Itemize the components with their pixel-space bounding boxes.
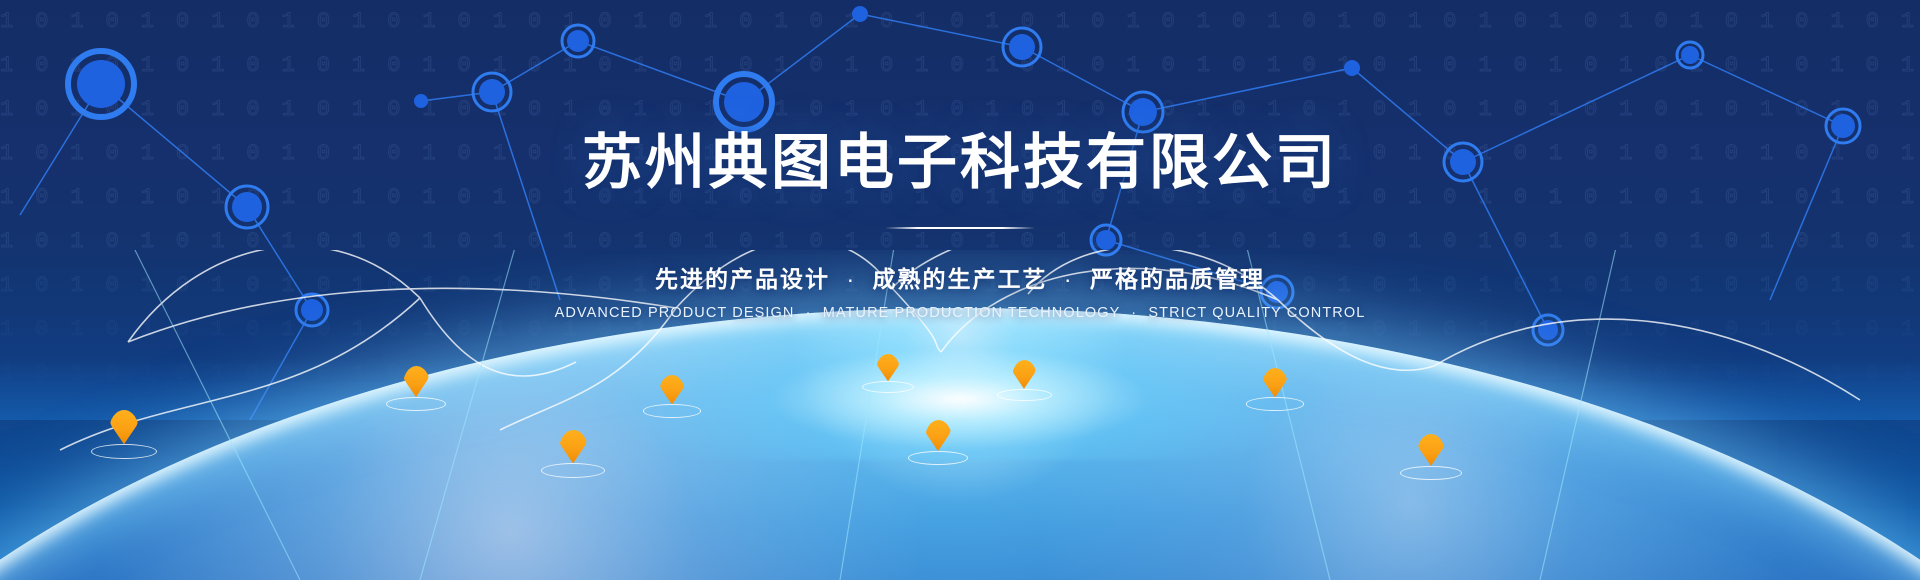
globe-atmosphere-rim bbox=[0, 308, 1920, 580]
tagline-en-separator-2: · bbox=[1125, 305, 1143, 321]
tagline-cn-part-1: 先进的产品设计 bbox=[655, 266, 830, 292]
title-divider bbox=[885, 227, 1035, 229]
page-title: 苏州典图电子科技有限公司 bbox=[0, 133, 1920, 193]
tagline-english: ADVANCED PRODUCT DESIGN · MATURE PRODUCT… bbox=[0, 305, 1920, 321]
tagline-en-separator-1: · bbox=[800, 305, 818, 321]
tagline-en-part-1: ADVANCED PRODUCT DESIGN bbox=[555, 305, 795, 321]
tagline-chinese: 先进的产品设计 · 成熟的生产工艺 · 严格的品质管理 bbox=[0, 260, 1920, 294]
hero-content: 苏州典图电子科技有限公司 先进的产品设计 · 成熟的生产工艺 · 严格的品质管理… bbox=[0, 0, 1920, 321]
tagline-cn-part-3: 严格的品质管理 bbox=[1090, 266, 1265, 292]
hero-banner: 1010101010101010101010101010101010101010… bbox=[0, 0, 1920, 580]
tagline-cn-separator-2: · bbox=[1056, 266, 1082, 292]
tagline-en-part-2: MATURE PRODUCTION TECHNOLOGY bbox=[823, 305, 1120, 321]
tagline-cn-part-2: 成熟的生产工艺 bbox=[873, 266, 1048, 292]
tagline-en-part-3: STRICT QUALITY CONTROL bbox=[1148, 305, 1365, 321]
tagline-cn-separator-1: · bbox=[838, 266, 864, 292]
